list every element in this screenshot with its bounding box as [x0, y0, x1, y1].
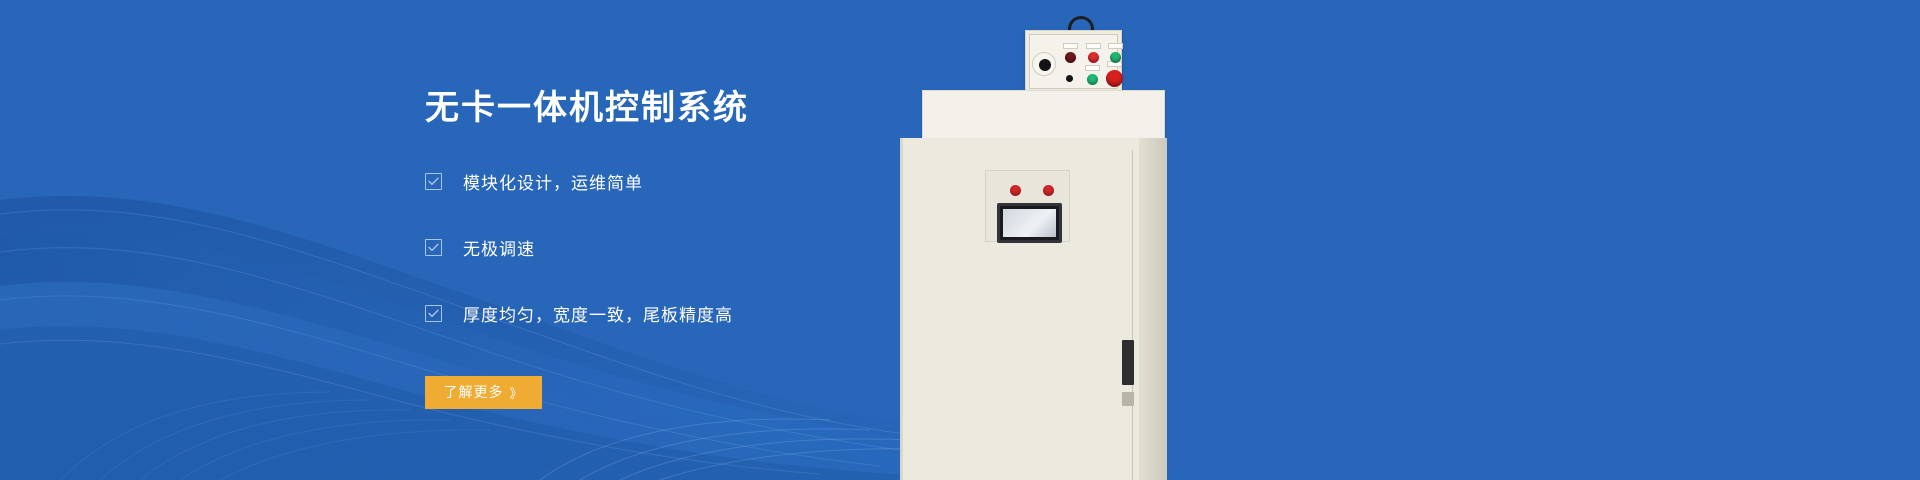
list-item: 无极调速 [425, 231, 1045, 264]
cabinet-door-seam [1132, 150, 1133, 480]
chevron-right-icon: 》 [509, 383, 523, 402]
feature-label: 模块化设计，运维简单 [463, 169, 643, 194]
feature-label: 无极调速 [463, 235, 535, 260]
page-title: 无卡一体机控制系统 [425, 88, 1045, 129]
learn-more-label: 了解更多 [443, 382, 503, 402]
panel-button-green-2[interactable] [1087, 74, 1098, 85]
rotary-selector-knob[interactable] [1032, 52, 1056, 76]
button-label-5 [1085, 65, 1100, 71]
panel-button-red[interactable] [1088, 52, 1099, 63]
emergency-stop-button[interactable] [1106, 70, 1123, 87]
panel-button-darkred[interactable] [1065, 52, 1076, 63]
cabinet-handle [1122, 340, 1134, 385]
feature-label: 厚度均匀，宽度一致，尾板精度高 [463, 301, 733, 326]
checkbox-check-icon [425, 305, 442, 322]
button-label-2 [1086, 43, 1101, 49]
panel-button-green[interactable] [1110, 52, 1121, 63]
panel-button-black[interactable] [1066, 75, 1073, 82]
cabinet-lock [1122, 392, 1134, 406]
button-label-1 [1063, 43, 1078, 49]
feature-list: 模块化设计，运维简单 无极调速 厚度均匀，宽度一致，尾板精度高 [425, 165, 1045, 330]
checkbox-check-icon [425, 239, 442, 256]
list-item: 模块化设计，运维简单 [425, 165, 1045, 198]
hero-banner: 无卡一体机控制系统 模块化设计，运维简单 无极调速 [0, 0, 1920, 480]
list-item: 厚度均匀，宽度一致，尾板精度高 [425, 297, 1045, 330]
learn-more-button[interactable]: 了解更多 》 [425, 376, 542, 409]
checkbox-check-icon [425, 173, 442, 190]
hero-content: 无卡一体机控制系统 模块化设计，运维简单 无极调速 [425, 88, 1045, 409]
button-label-3 [1108, 43, 1123, 49]
